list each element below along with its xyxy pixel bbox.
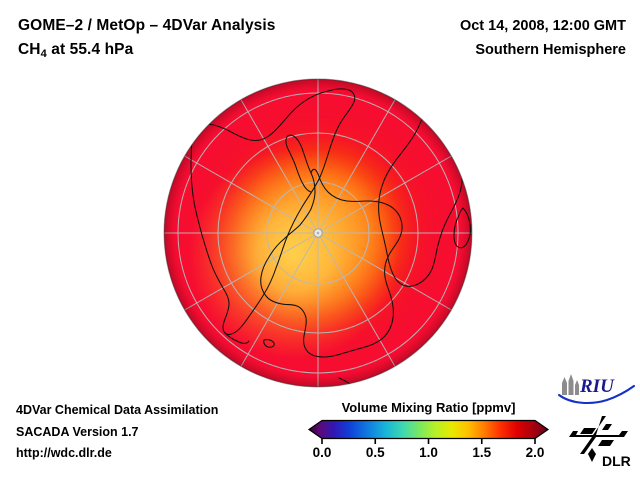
figure-meta: Oct 14, 2008, 12:00 GMT Southern Hemisph… bbox=[460, 14, 626, 62]
dlr-logo: DLR bbox=[566, 414, 634, 470]
dlr-wordmark: DLR bbox=[602, 453, 631, 469]
footer-line-2: SACADA Version 1.7 bbox=[16, 422, 218, 444]
colorbar-title: Volume Mixing Ratio [ppmv] bbox=[306, 400, 551, 415]
colorbar-tick-1: 0.5 bbox=[366, 445, 385, 460]
globe-svg bbox=[163, 78, 473, 388]
species-level: at 55.4 hPa bbox=[47, 41, 134, 58]
coastline-australia bbox=[415, 349, 461, 387]
colorbar-tick-labels: 0.0 0.5 1.0 1.5 2.0 bbox=[306, 445, 551, 465]
timestamp-label: Oct 14, 2008, 12:00 GMT bbox=[460, 14, 626, 38]
hemisphere-label: Southern Hemisphere bbox=[460, 38, 626, 62]
colorbar-tick-4: 2.0 bbox=[526, 445, 545, 460]
limb-shading bbox=[164, 79, 472, 387]
footer-credits: 4DVar Chemical Data Assimilation SACADA … bbox=[16, 400, 218, 465]
colorbar-tick-3: 1.5 bbox=[472, 445, 491, 460]
riu-wordmark: RIU bbox=[579, 376, 615, 397]
footer-line-3: http://wdc.dlr.de bbox=[16, 443, 218, 465]
colorbar-ticks bbox=[322, 439, 535, 445]
colorbar-tick-2: 1.0 bbox=[419, 445, 438, 460]
figure-canvas: GOME–2 / MetOp – 4DVar Analysis CH4 at 5… bbox=[0, 0, 640, 480]
dlr-logo-svg: DLR bbox=[566, 414, 634, 470]
riu-logo: RIU bbox=[557, 373, 637, 409]
riu-towers-icon bbox=[562, 374, 579, 395]
title-line-1: GOME–2 / MetOp – 4DVar Analysis bbox=[18, 17, 276, 34]
riu-logo-svg: RIU bbox=[557, 373, 637, 409]
title-line-2: CH4 at 55.4 hPa bbox=[18, 38, 276, 66]
footer-line-1: 4DVar Chemical Data Assimilation bbox=[16, 400, 218, 422]
colorbar-tick-0: 0.0 bbox=[313, 445, 332, 460]
colorbar: Volume Mixing Ratio [ppmv] bbox=[306, 400, 551, 472]
figure-title: GOME–2 / MetOp – 4DVar Analysis CH4 at 5… bbox=[18, 14, 276, 66]
polar-map bbox=[163, 78, 473, 388]
colorbar-gradient-bar bbox=[309, 421, 548, 439]
species-label: CH bbox=[18, 41, 41, 58]
